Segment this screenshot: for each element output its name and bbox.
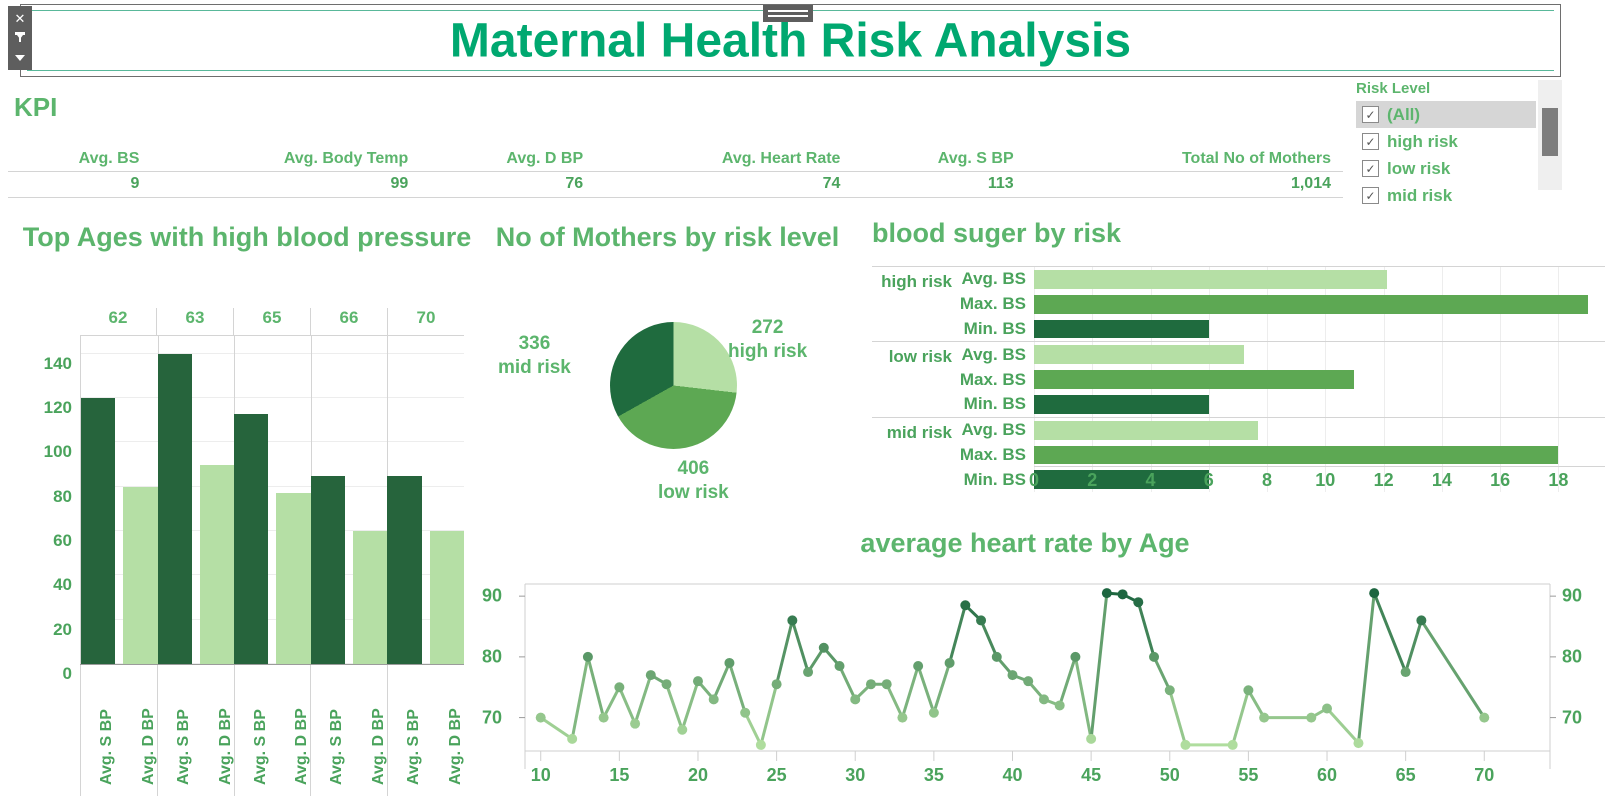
- bar[interactable]: [234, 414, 268, 664]
- gridline: [1558, 267, 1559, 292]
- data-point[interactable]: [1118, 589, 1128, 599]
- bs-x-tick-label: 12: [1374, 470, 1394, 491]
- line-segment: [541, 718, 572, 739]
- data-point[interactable]: [1479, 713, 1489, 723]
- chart-title: blood suger by risk: [872, 218, 1605, 249]
- bs-x-tick-label: 8: [1262, 470, 1272, 491]
- hr-x-tick-label: 15: [609, 765, 629, 786]
- line-segment: [1091, 593, 1107, 739]
- hr-x-tick-label: 30: [845, 765, 865, 786]
- pie-slice-name: mid risk: [498, 356, 571, 380]
- top-ages-bp-chart: Top Ages with high blood pressure 626365…: [8, 222, 486, 802]
- line-segment: [604, 687, 620, 717]
- line-segment: [761, 684, 777, 745]
- data-point[interactable]: [1243, 685, 1253, 695]
- gridline: [1267, 392, 1268, 417]
- gridline: [1442, 267, 1443, 292]
- gridline: [1558, 317, 1559, 342]
- line-segment: [667, 684, 683, 730]
- data-point[interactable]: [803, 667, 813, 677]
- chart-title: No of Mothers by risk level: [470, 222, 865, 253]
- bp-x-tick-label: Avg. S BP: [81, 665, 115, 796]
- gridline: [1558, 367, 1559, 392]
- bp-age-label: 63: [156, 308, 233, 335]
- gridline: [1500, 342, 1501, 367]
- gridline: [1558, 392, 1559, 417]
- bs-row: Avg. BS: [956, 267, 1605, 292]
- line-segment: [1327, 708, 1358, 743]
- gridline: [1442, 367, 1443, 392]
- data-point[interactable]: [1102, 588, 1112, 598]
- gridline: [1325, 342, 1326, 367]
- data-point[interactable]: [1055, 700, 1065, 710]
- line-segment: [792, 620, 808, 672]
- bp-x-tick-label: Avg. D BP: [123, 665, 157, 796]
- data-point[interactable]: [693, 676, 703, 686]
- bs-bar-track: [1034, 317, 1605, 342]
- data-point[interactable]: [992, 652, 1002, 662]
- kpi-col-header: Avg. Body Temp: [151, 150, 420, 172]
- data-point[interactable]: [1165, 685, 1175, 695]
- gridline: [1384, 418, 1385, 443]
- data-point[interactable]: [1228, 740, 1238, 750]
- risk-filter-item-midrisk[interactable]: ✓mid risk: [1356, 182, 1536, 209]
- data-point[interactable]: [787, 615, 797, 625]
- line-segment: [588, 657, 604, 718]
- chevron-down-icon[interactable]: [10, 48, 30, 68]
- data-point[interactable]: [945, 658, 955, 668]
- data-point[interactable]: [1369, 588, 1379, 598]
- bp-x-label-group: Avg. S BPAvg. D BP: [310, 665, 387, 796]
- pie-slice-name: high risk: [728, 340, 807, 364]
- line-segment: [918, 666, 934, 713]
- bs-x-tick-label: 16: [1490, 470, 1510, 491]
- data-point[interactable]: [819, 643, 829, 653]
- hr-x-tick-label: 55: [1238, 765, 1258, 786]
- data-point[interactable]: [1039, 694, 1049, 704]
- line-segment: [981, 620, 997, 656]
- bp-bar-group: [234, 336, 311, 664]
- floating-toolbar[interactable]: ✕: [8, 6, 32, 70]
- line-segment: [887, 684, 903, 717]
- bar[interactable]: [158, 354, 192, 664]
- bs-x-tick-label: 18: [1548, 470, 1568, 491]
- data-point[interactable]: [567, 734, 577, 744]
- drag-handle[interactable]: [763, 5, 813, 22]
- bar[interactable]: [387, 476, 421, 664]
- gridline: [1500, 392, 1501, 417]
- pin-icon[interactable]: [10, 28, 30, 48]
- bar[interactable]: [1034, 270, 1387, 289]
- data-point[interactable]: [1416, 615, 1426, 625]
- gridline: [1500, 418, 1501, 443]
- data-point[interactable]: [630, 719, 640, 729]
- bp-x-axis-labels: Avg. S BPAvg. D BPAvg. S BPAvg. D BPAvg.…: [80, 664, 464, 796]
- gridline: [1325, 317, 1326, 342]
- bp-x-label-group: Avg. S BPAvg. D BP: [387, 665, 464, 796]
- bar[interactable]: [430, 531, 464, 664]
- hr-x-tick-label: 60: [1317, 765, 1337, 786]
- checkbox-icon[interactable]: ✓: [1362, 160, 1379, 177]
- line-segment: [1406, 620, 1422, 672]
- kpi-value: 74: [595, 172, 852, 198]
- bs-row: Max. BS: [956, 367, 1605, 392]
- bs-bar-track: [1034, 443, 1605, 468]
- gridline: [1384, 367, 1385, 392]
- data-point[interactable]: [740, 708, 750, 718]
- line-segment: [777, 620, 793, 684]
- bs-bar-track: [1034, 367, 1605, 392]
- line-segment: [729, 663, 745, 713]
- line-segment: [572, 657, 588, 739]
- data-point[interactable]: [929, 708, 939, 718]
- line-segment: [1170, 690, 1186, 745]
- line-segment: [1060, 657, 1076, 706]
- line-segment: [619, 687, 635, 723]
- bs-metric-rows: Avg. BSMax. BSMin. BS: [956, 342, 1605, 416]
- bar[interactable]: [1034, 370, 1354, 389]
- bs-bar-track: [1034, 292, 1605, 317]
- bs-bar-track: [1034, 342, 1605, 367]
- hr-y-tick-label: 70: [482, 707, 502, 728]
- kpi-value: 9: [8, 172, 151, 198]
- checkbox-icon[interactable]: ✓: [1362, 133, 1379, 150]
- bp-x-tick-label: Avg. S BP: [158, 665, 192, 796]
- bp-age-label: 62: [80, 308, 156, 335]
- data-point[interactable]: [1149, 652, 1159, 662]
- data-point[interactable]: [1322, 703, 1332, 713]
- pie-slice-label-high-risk: 272high risk: [728, 316, 807, 364]
- bs-bar-track: [1034, 418, 1605, 443]
- gridline: [1442, 392, 1443, 417]
- blood-sugar-by-risk-chart: blood suger by risk high riskAvg. BSMax.…: [868, 218, 1605, 528]
- data-point[interactable]: [866, 679, 876, 689]
- kpi-value: 113: [852, 172, 1025, 198]
- bar[interactable]: [123, 487, 157, 664]
- kpi-heading: KPI: [14, 92, 57, 123]
- bs-metric-label: Avg. BS: [956, 420, 1034, 440]
- data-point[interactable]: [1070, 652, 1080, 662]
- bar[interactable]: [353, 531, 387, 664]
- gridline: [1558, 443, 1559, 468]
- data-point[interactable]: [835, 661, 845, 671]
- bar[interactable]: [1034, 295, 1588, 314]
- data-point[interactable]: [850, 694, 860, 704]
- gridline: [1442, 317, 1443, 342]
- bs-bar-track: [1034, 392, 1605, 417]
- data-point[interactable]: [976, 615, 986, 625]
- line-segment: [1421, 620, 1484, 717]
- gridline: [1384, 317, 1385, 342]
- pie-slice-value: 272: [728, 316, 807, 340]
- data-point[interactable]: [1023, 676, 1033, 686]
- kpi-value: 1,014: [1026, 172, 1343, 198]
- line-segment: [840, 666, 856, 699]
- bp-x-tick-label: Avg. D BP: [353, 665, 387, 796]
- bp-age-label: 65: [233, 308, 310, 335]
- hr-y-tick-label: 70: [1562, 707, 1582, 728]
- bs-x-tick-label: 10: [1315, 470, 1335, 491]
- gridline: [1558, 418, 1559, 443]
- gridline: [1500, 317, 1501, 342]
- hr-x-tick-label: 45: [1081, 765, 1101, 786]
- bs-metric-label: Avg. BS: [956, 345, 1034, 365]
- data-point[interactable]: [1353, 738, 1363, 748]
- bs-metric-label: Min. BS: [956, 470, 1034, 490]
- data-point[interactable]: [1180, 740, 1190, 750]
- bp-x-label-group: Avg. S BPAvg. D BP: [157, 665, 234, 796]
- risk-filter-item-all[interactable]: ✓(All): [1356, 101, 1536, 128]
- line-segment: [745, 713, 761, 745]
- bp-bar-group: [158, 336, 235, 664]
- gridline: [1442, 342, 1443, 367]
- avg-heart-rate-chart: average heart rate by Age 70708080909010…: [470, 528, 1605, 803]
- data-point[interactable]: [756, 740, 766, 750]
- data-point[interactable]: [913, 661, 923, 671]
- risk-filter-item-label: mid risk: [1387, 186, 1452, 206]
- line-segment: [950, 605, 966, 663]
- risk-filter-item-label: (All): [1387, 105, 1420, 125]
- gridline: [1267, 317, 1268, 342]
- data-point[interactable]: [897, 713, 907, 723]
- bar[interactable]: [1034, 421, 1258, 440]
- bar[interactable]: [1034, 345, 1244, 364]
- data-point[interactable]: [1008, 670, 1018, 680]
- hr-x-tick-label: 25: [767, 765, 787, 786]
- risk-filter-list[interactable]: ✓(All)✓high risk✓low risk✓mid risk: [1356, 101, 1536, 209]
- gridline: [1384, 342, 1385, 367]
- bs-metric-label: Max. BS: [956, 445, 1034, 465]
- chart-title: average heart rate by Age: [480, 528, 1570, 559]
- data-point[interactable]: [1401, 667, 1411, 677]
- bs-x-tick-label: 0: [1029, 470, 1039, 491]
- line-segment: [1154, 657, 1170, 690]
- bp-x-label-group: Avg. S BPAvg. D BP: [234, 665, 311, 796]
- hr-x-tick-label: 20: [688, 765, 708, 786]
- bp-age-label: 66: [310, 308, 387, 335]
- bar[interactable]: [1034, 395, 1209, 414]
- bs-metric-rows: Avg. BSMax. BSMin. BS: [956, 267, 1605, 341]
- bar[interactable]: [200, 465, 234, 664]
- bp-x-tick-label: Avg. D BP: [276, 665, 310, 796]
- bar[interactable]: [311, 476, 345, 664]
- bs-x-axis: 024681012141618: [1034, 466, 1605, 494]
- risk-filter-item-label: high risk: [1387, 132, 1458, 152]
- bs-risk-label: high risk: [872, 267, 956, 341]
- hr-x-tick-label: 50: [1160, 765, 1180, 786]
- bs-metric-label: Avg. BS: [956, 269, 1034, 289]
- pie-slice-value: 406: [658, 457, 729, 481]
- data-point[interactable]: [1306, 713, 1316, 723]
- bs-risk-group: high riskAvg. BSMax. BSMin. BS: [872, 266, 1605, 341]
- bs-bar-track: [1034, 267, 1605, 292]
- kpi-header-row: Avg. BS Avg. Body Temp Avg. D BP Avg. He…: [8, 150, 1343, 172]
- gridline: [1325, 392, 1326, 417]
- bs-x-tick-label: 6: [1204, 470, 1214, 491]
- kpi-table: Avg. BS Avg. Body Temp Avg. D BP Avg. He…: [8, 150, 1343, 198]
- bs-row: Max. BS: [956, 443, 1605, 468]
- kpi-col-header: Total No of Mothers: [1026, 150, 1343, 172]
- bs-risk-group: low riskAvg. BSMax. BSMin. BS: [872, 341, 1605, 416]
- scrollbar-thumb[interactable]: [1542, 108, 1558, 156]
- bp-x-tick-label: Avg. D BP: [430, 665, 464, 796]
- gridline: [1500, 267, 1501, 292]
- bp-x-tick-label: Avg. D BP: [200, 665, 234, 796]
- bs-row: Avg. BS: [956, 342, 1605, 367]
- data-point[interactable]: [646, 670, 656, 680]
- bp-x-tick-label: Avg. S BP: [235, 665, 269, 796]
- gridline: [1209, 392, 1210, 417]
- title-rule-bottom: [27, 70, 1554, 71]
- data-point[interactable]: [677, 725, 687, 735]
- data-point[interactable]: [1133, 597, 1143, 607]
- kpi-col-header: Avg. Heart Rate: [595, 150, 852, 172]
- bp-bar-group: [81, 336, 158, 664]
- pie-slice-label-mid-risk: 336mid risk: [498, 332, 571, 380]
- bs-metric-label: Min. BS: [956, 394, 1034, 414]
- data-point[interactable]: [1086, 734, 1096, 744]
- bs-risk-label: mid risk: [872, 418, 956, 492]
- risk-filter-item-highrisk[interactable]: ✓high risk: [1356, 128, 1536, 155]
- kpi-value: 76: [420, 172, 595, 198]
- bp-age-headers: 6263656670: [80, 308, 464, 336]
- line-segment: [714, 663, 730, 699]
- data-point[interactable]: [724, 658, 734, 668]
- bp-bar-group: [311, 336, 388, 664]
- risk-filter-title: Risk Level: [1356, 80, 1536, 97]
- risk-filter-item-lowrisk[interactable]: ✓low risk: [1356, 155, 1536, 182]
- grip-line: [768, 10, 808, 12]
- pie-slice-label-low-risk: 406low risk: [658, 457, 729, 505]
- kpi-col-header: Avg. S BP: [852, 150, 1025, 172]
- bp-plot-area: [80, 336, 464, 664]
- data-point[interactable]: [614, 682, 624, 692]
- hr-x-tick-label: 40: [1002, 765, 1022, 786]
- bs-row: Min. BS: [956, 317, 1605, 342]
- hr-x-tick-label: 10: [531, 765, 551, 786]
- data-point[interactable]: [709, 694, 719, 704]
- bs-x-tick-label: 2: [1087, 470, 1097, 491]
- close-icon[interactable]: ✕: [10, 8, 30, 28]
- line-segment: [682, 681, 698, 730]
- bar[interactable]: [1034, 446, 1558, 465]
- gridline: [1500, 367, 1501, 392]
- filter-scrollbar[interactable]: [1538, 80, 1562, 190]
- line-segment: [1233, 690, 1249, 745]
- data-point[interactable]: [536, 713, 546, 723]
- bar[interactable]: [276, 493, 310, 664]
- bp-x-tick-label: Avg. S BP: [388, 665, 422, 796]
- hr-plot-area: 70708080909010152025303540455055606570: [470, 574, 1605, 799]
- line-segment: [1374, 593, 1405, 672]
- data-point[interactable]: [960, 600, 970, 610]
- bs-row: Max. BS: [956, 292, 1605, 317]
- bs-row: Min. BS: [956, 392, 1605, 417]
- bar[interactable]: [81, 398, 115, 664]
- bs-metric-label: Max. BS: [956, 294, 1034, 314]
- line-segment: [934, 663, 950, 713]
- hr-x-tick-label: 35: [924, 765, 944, 786]
- bp-x-label-group: Avg. S BPAvg. D BP: [80, 665, 157, 796]
- data-point[interactable]: [599, 713, 609, 723]
- risk-filter-item-label: low risk: [1387, 159, 1450, 179]
- line-segment: [1138, 602, 1154, 657]
- bs-risk-label: low risk: [872, 342, 956, 416]
- bs-metric-label: Min. BS: [956, 319, 1034, 339]
- gridline: [1558, 342, 1559, 367]
- bs-x-tick-label: 14: [1432, 470, 1452, 491]
- gridline: [1325, 418, 1326, 443]
- hr-x-tick-label: 65: [1396, 765, 1416, 786]
- bp-y-axis: 020406080100120140: [20, 336, 78, 664]
- mothers-by-risk-chart: No of Mothers by risk level 272high risk…: [470, 222, 870, 522]
- bs-row: Avg. BS: [956, 418, 1605, 443]
- bp-bar-group: [387, 336, 464, 664]
- hr-y-tick-label: 80: [482, 646, 502, 667]
- line-segment: [902, 666, 918, 718]
- bp-x-tick-label: Avg. S BP: [311, 665, 345, 796]
- bs-metric-label: Max. BS: [956, 370, 1034, 390]
- hr-x-tick-label: 70: [1474, 765, 1494, 786]
- kpi-value-row: 9 99 76 74 113 1,014: [8, 172, 1343, 198]
- gridline: [1267, 418, 1268, 443]
- gridline: [1384, 392, 1385, 417]
- checkbox-icon[interactable]: ✓: [1362, 187, 1379, 204]
- kpi-col-header: Avg. D BP: [420, 150, 595, 172]
- pie-slice-name: low risk: [658, 481, 729, 505]
- gridline: [1442, 418, 1443, 443]
- pie-graphic: [610, 322, 737, 449]
- data-point[interactable]: [772, 679, 782, 689]
- checkbox-icon[interactable]: ✓: [1362, 106, 1379, 123]
- kpi-value: 99: [151, 172, 420, 198]
- grip-line: [768, 15, 808, 17]
- pie-slice-value: 336: [498, 332, 571, 356]
- hr-y-tick-label: 80: [1562, 646, 1582, 667]
- data-point[interactable]: [662, 679, 672, 689]
- gridline: [1209, 317, 1210, 342]
- bar[interactable]: [1034, 320, 1209, 339]
- risk-level-filter[interactable]: Risk Level ✓(All)✓high risk✓low risk✓mid…: [1356, 80, 1536, 209]
- gridline: [1267, 342, 1268, 367]
- kpi-col-header: Avg. BS: [8, 150, 151, 172]
- data-point[interactable]: [583, 652, 593, 662]
- line-segment: [1358, 593, 1374, 743]
- bp-age-label: 70: [387, 308, 464, 335]
- hr-y-tick-label: 90: [482, 586, 502, 607]
- data-point[interactable]: [882, 679, 892, 689]
- chart-title: Top Ages with high blood pressure: [12, 222, 482, 253]
- hr-y-tick-label: 90: [1562, 586, 1582, 607]
- bs-x-tick-label: 4: [1146, 470, 1156, 491]
- data-point[interactable]: [1259, 713, 1269, 723]
- line-segment: [635, 675, 651, 724]
- line-segment: [1075, 657, 1091, 739]
